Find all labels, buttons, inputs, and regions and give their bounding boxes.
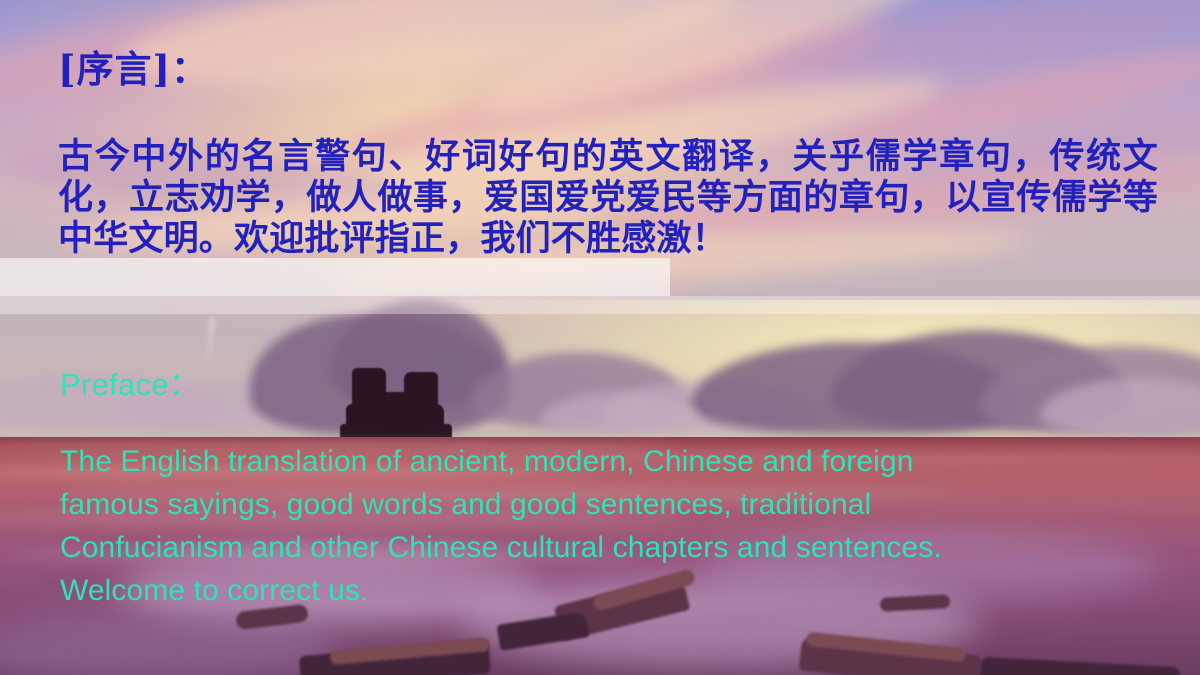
slide-canvas: [序言]： 古今中外的名言警句、好词好句的英文翻译，关乎儒学章句，传统文化，立志… (0, 0, 1200, 675)
english-body-line: Welcome to correct us. (60, 569, 1120, 612)
english-body-paragraph: The English translation of ancient, mode… (60, 440, 1120, 612)
english-body-line: Confucianism and other Chinese cultural … (60, 526, 1120, 569)
english-body-line: The English translation of ancient, mode… (60, 440, 1120, 483)
chinese-body-paragraph: 古今中外的名言警句、好词好句的英文翻译，关乎儒学章句，传统文化，立志劝学，做人做… (58, 136, 1158, 259)
chinese-title: [序言]： (58, 48, 209, 91)
english-title: Preface： (60, 359, 200, 404)
english-body-line: famous sayings, good words and good sent… (60, 483, 1120, 526)
text-layer: [序言]： 古今中外的名言警句、好词好句的英文翻译，关乎儒学章句，传统文化，立志… (0, 0, 1200, 675)
